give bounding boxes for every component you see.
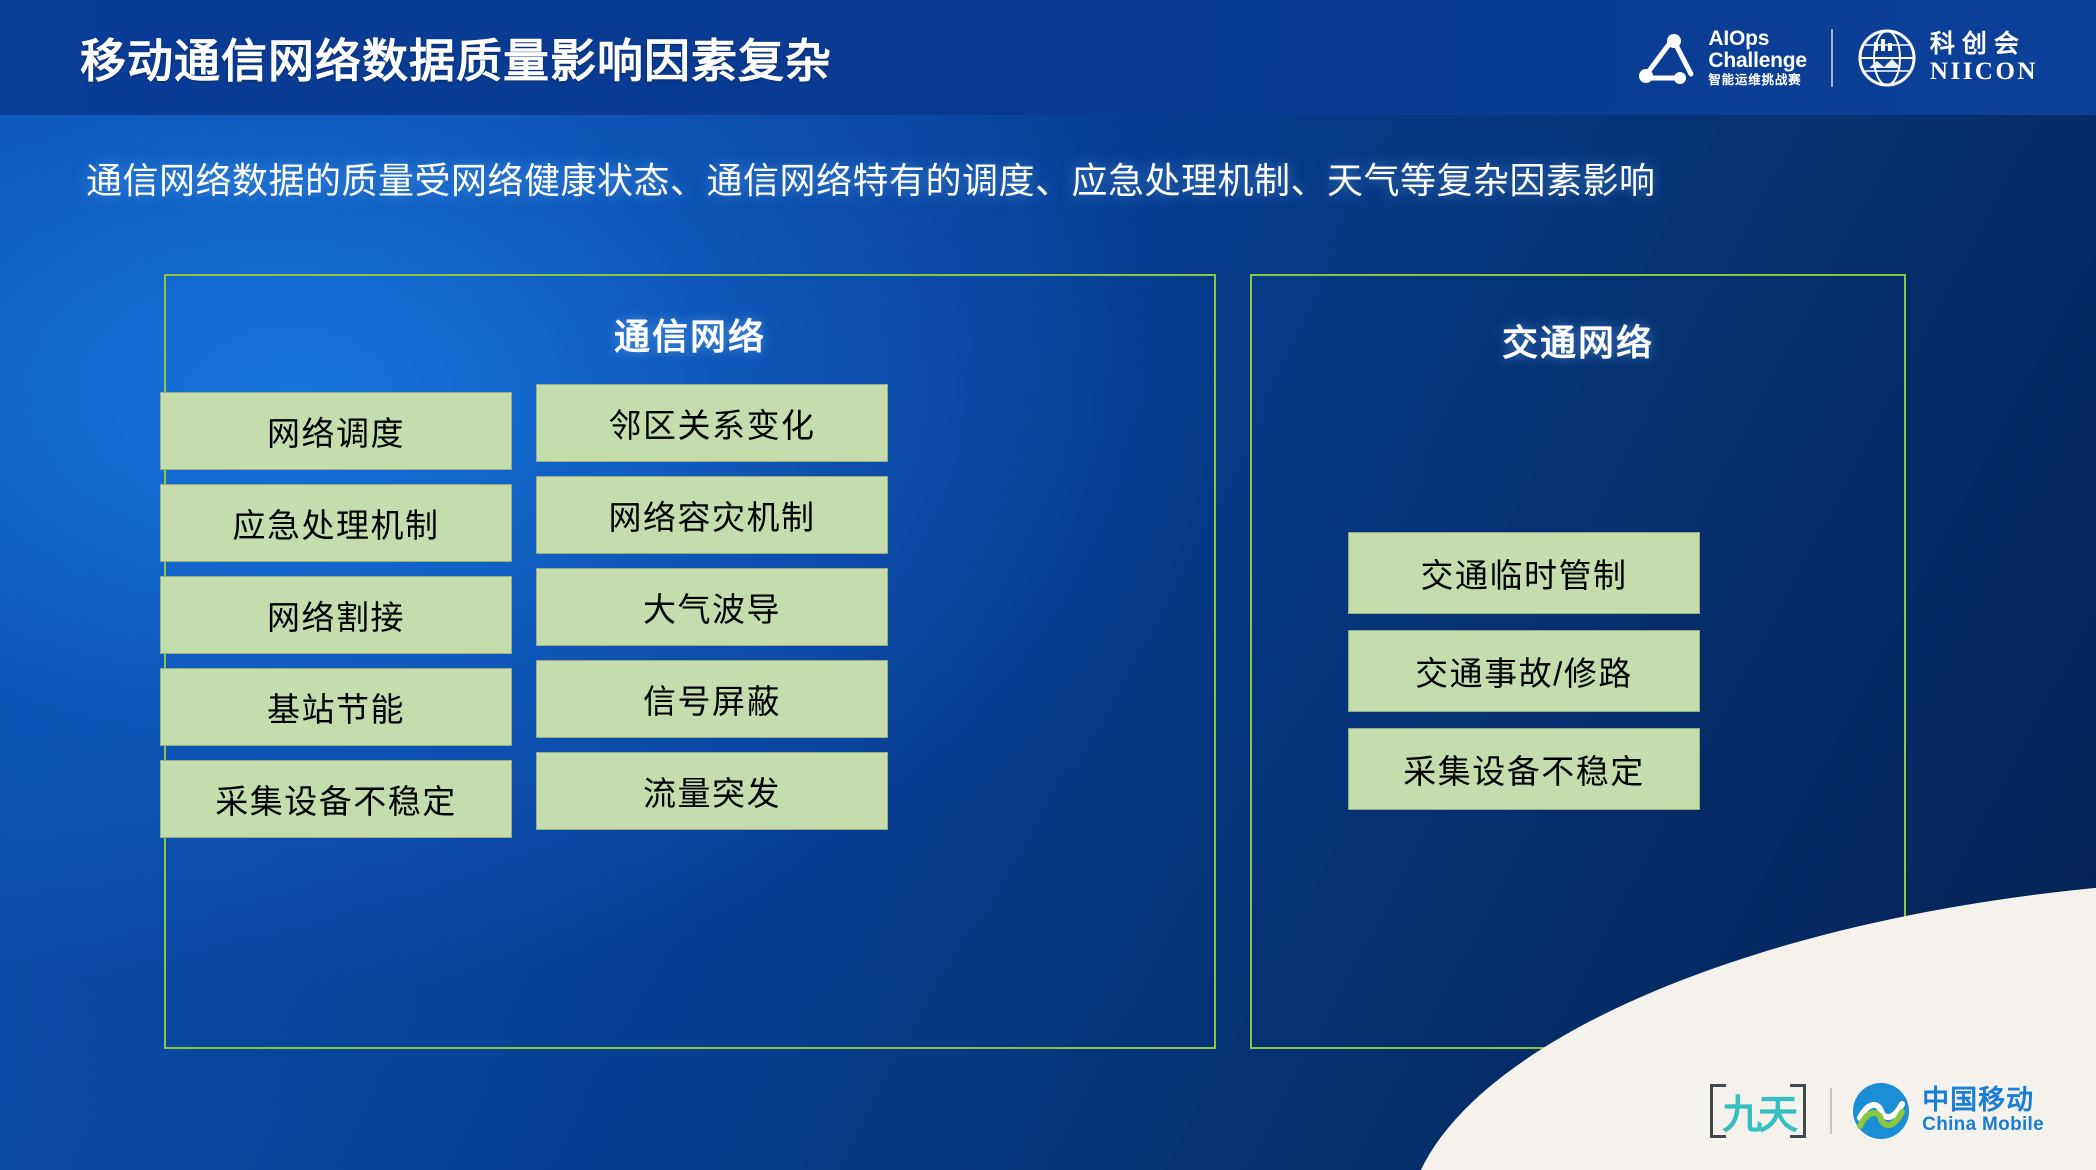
factor-box[interactable]: 大气波导: [536, 568, 888, 646]
niicon-logo: 科创会 NIICON: [1857, 28, 2038, 88]
factor-box[interactable]: 交通事故/修路: [1348, 630, 1700, 712]
panel-title-communication-network: 通信网络: [166, 308, 1214, 360]
factor-box[interactable]: 信号屏蔽: [536, 660, 888, 738]
panel-traffic-network: 交通网络交通临时管制交通事故/修路采集设备不稳定: [1250, 274, 1906, 1049]
aiops-triangle-nodes-icon: [1635, 30, 1697, 86]
panel-communication-network: 通信网络网络调度应急处理机制网络割接基站节能采集设备不稳定邻区关系变化网络容灾机…: [164, 274, 1216, 1049]
cmcc-en-name: China Mobile: [1922, 1115, 2044, 1136]
china-mobile-wordmark: 中国移动 China Mobile: [1922, 1086, 2044, 1137]
factor-box[interactable]: 网络调度: [160, 392, 512, 470]
niicon-en-name: NIICON: [1930, 58, 2038, 85]
factor-box[interactable]: 基站节能: [160, 668, 512, 746]
slide-subtitle: 通信网络数据的质量受网络健康状态、通信网络特有的调度、应急处理机制、天气等复杂因…: [86, 152, 1656, 204]
slide-header: 移动通信网络数据质量影响因素复杂 AIOps Challenge: [0, 0, 2096, 115]
factor-box[interactable]: 应急处理机制: [160, 484, 512, 562]
aiops-line2: Challenge: [1708, 50, 1807, 72]
footer-logo-group: 九天 中国移动 China Mobile: [1706, 1080, 2044, 1142]
factor-box[interactable]: 采集设备不稳定: [160, 760, 512, 838]
china-mobile-wave-icon: [1852, 1082, 1910, 1140]
factor-box[interactable]: 网络割接: [160, 576, 512, 654]
aiops-line3-cn: 智能运维挑战赛: [1708, 74, 1807, 87]
niicon-globe-icon: [1857, 28, 1917, 88]
factor-box[interactable]: 邻区关系变化: [536, 384, 888, 462]
slide-root: 移动通信网络数据质量影响因素复杂 AIOps Challenge: [0, 0, 2096, 1170]
header-logo-group: AIOps Challenge 智能运维挑战赛: [1635, 28, 2038, 88]
logo-divider: [1831, 29, 1833, 87]
niicon-wordmark: 科创会 NIICON: [1930, 31, 2038, 85]
page-title: 移动通信网络数据质量影响因素复杂: [80, 25, 832, 91]
aiops-challenge-logo: AIOps Challenge 智能运维挑战赛: [1635, 28, 1807, 87]
factor-box[interactable]: 采集设备不稳定: [1348, 728, 1700, 810]
china-mobile-logo: 中国移动 China Mobile: [1852, 1082, 2044, 1140]
factor-box[interactable]: 网络容灾机制: [536, 476, 888, 554]
aiops-wordmark: AIOps Challenge 智能运维挑战赛: [1708, 28, 1807, 87]
right-bracket-icon: [1790, 1084, 1806, 1138]
aiops-line1: AIOps: [1708, 28, 1807, 50]
factor-box[interactable]: 流量突发: [536, 752, 888, 830]
factor-box[interactable]: 交通临时管制: [1348, 532, 1700, 614]
panel-title-traffic-network: 交通网络: [1252, 314, 1904, 366]
niicon-cn-name: 科创会: [1930, 31, 2038, 58]
cmcc-cn-name: 中国移动: [1922, 1086, 2044, 1116]
footer-divider: [1830, 1088, 1832, 1134]
jiutian-logo: 九天: [1706, 1080, 1810, 1142]
